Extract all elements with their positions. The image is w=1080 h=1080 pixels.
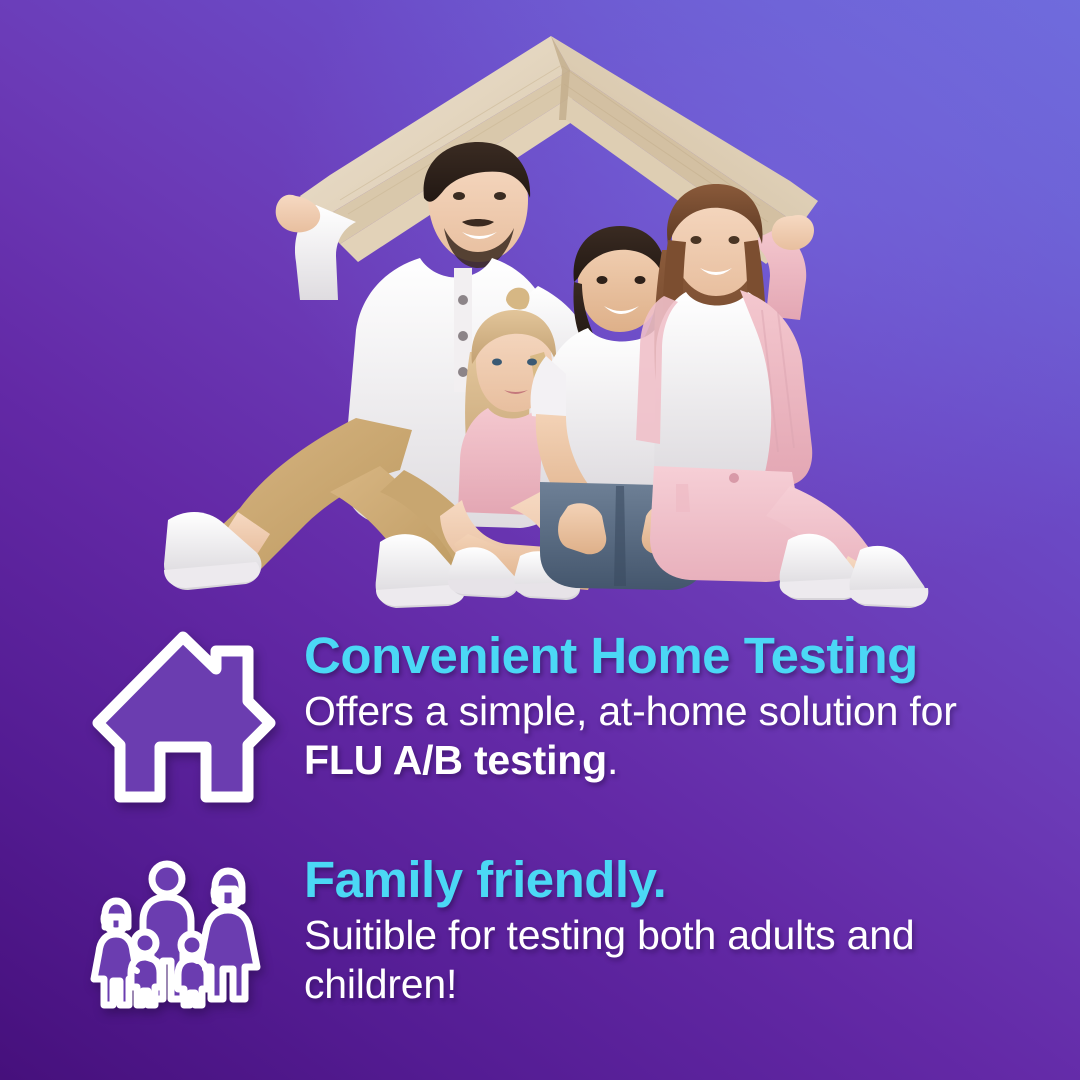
feature-body-1-after: . [607, 737, 618, 783]
mother-figure [636, 184, 928, 608]
family-icon-wrap [78, 849, 288, 1009]
feature-body-1: Offers a simple, at-home solution for FL… [304, 687, 1040, 785]
feature-body-2: Suitible for testing both adults and chi… [304, 911, 1040, 1009]
hero-photo [0, 0, 1080, 640]
house-icon-wrap [78, 625, 288, 807]
feature-body-2-before: Suitible for testing both adults and chi… [304, 912, 914, 1007]
feature-list: Convenient Home Testing Offers a simple,… [0, 625, 1080, 1009]
feature-heading-2: Family friendly. [304, 853, 1040, 907]
feature-text-1: Convenient Home Testing Offers a simple,… [288, 625, 1040, 785]
feature-heading-1: Convenient Home Testing [304, 629, 1040, 683]
feature-text-2: Family friendly. Suitible for testing bo… [288, 849, 1040, 1009]
family-photo-illustration [0, 0, 1080, 640]
house-icon [90, 631, 276, 807]
feature-item-convenient-home-testing: Convenient Home Testing Offers a simple,… [0, 625, 1080, 807]
family-icon [85, 857, 281, 1009]
feature-body-1-before: Offers a simple, at-home solution for [304, 688, 957, 734]
feature-item-family-friendly: Family friendly. Suitible for testing bo… [0, 849, 1080, 1009]
feature-body-1-bold: FLU A/B testing [304, 737, 607, 783]
